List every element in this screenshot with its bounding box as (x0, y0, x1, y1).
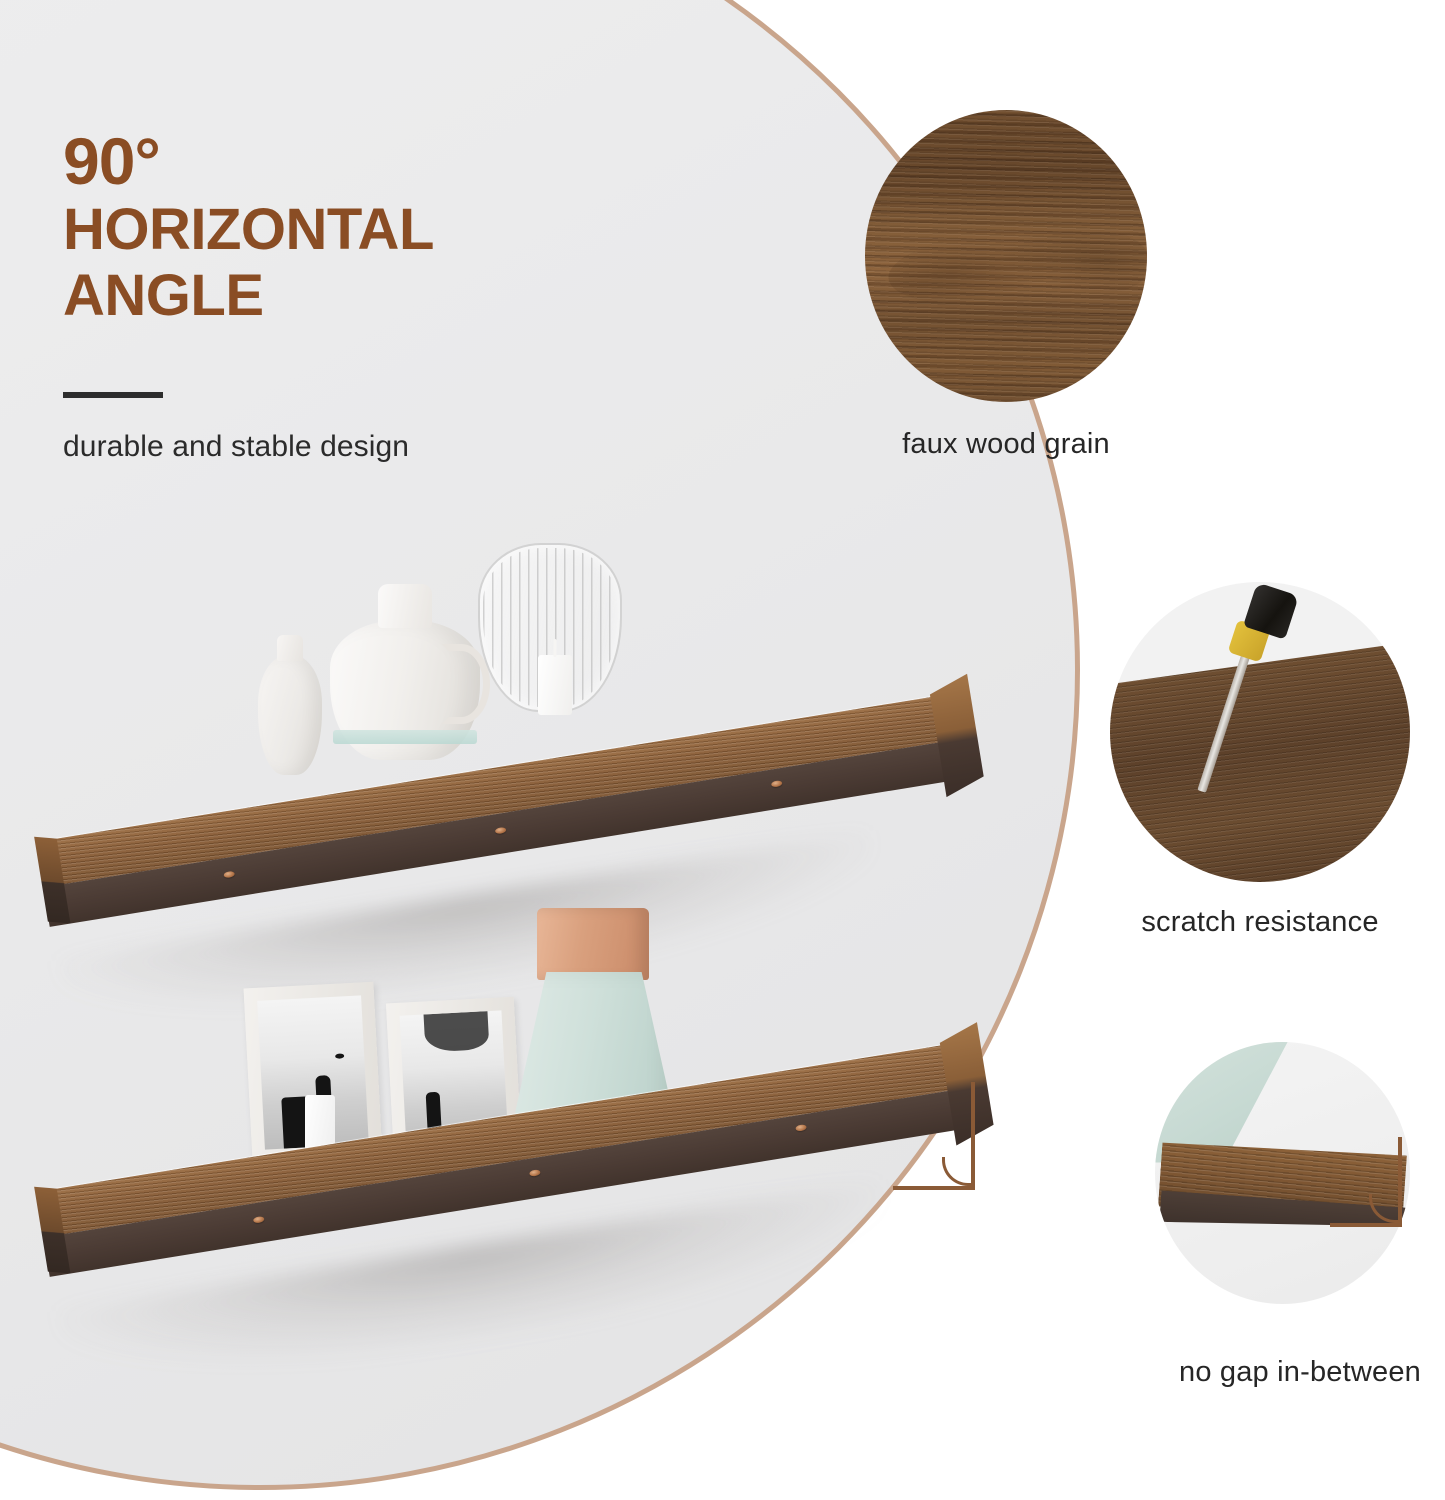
feature-label-no-gap-in-between: no gap in-between (1155, 1356, 1445, 1389)
feature-scratch-resistance: scratch resistance (1110, 582, 1410, 939)
feature-no-gap-in-between: no gap in-between (1155, 1042, 1445, 1389)
decor-small-vase (258, 655, 322, 775)
angle-marker-horizontal-leg (1330, 1223, 1402, 1227)
jug-neck (378, 584, 432, 628)
headline-block: 90° HORIZONTAL ANGLE durable and stable … (63, 128, 623, 464)
feature-faux-wood-grain: faux wood grain (865, 110, 1147, 461)
angle-marker-horizontal-leg (893, 1186, 975, 1190)
photo-bird-speck (335, 1053, 344, 1058)
faux-wood-grain-icon (865, 110, 1147, 402)
headline-line-3: ANGLE (63, 265, 623, 326)
angle-marker-90-degree-inset (1330, 1137, 1402, 1227)
angle-marker-90-degree (893, 1082, 975, 1190)
decor-candle (538, 655, 572, 715)
scratch-resistance-icon (1110, 582, 1410, 882)
feature-label-faux-wood-grain: faux wood grain (865, 428, 1147, 461)
scratch-scene (1110, 582, 1410, 882)
feature-label-scratch-resistance: scratch resistance (1110, 906, 1410, 939)
angle-marker-arc (1369, 1194, 1398, 1223)
decor-vase-copper-top (537, 908, 649, 980)
headline-line-2: HORIZONTAL (63, 199, 623, 260)
angle-marker-vertical-leg (1398, 1137, 1402, 1227)
headline-divider-rule (63, 392, 163, 398)
headline-subtitle: durable and stable design (63, 430, 623, 464)
photo-tree-branches (424, 1011, 489, 1052)
jug-mint-band (333, 730, 477, 744)
angle-marker-vertical-leg (971, 1082, 975, 1190)
decor-white-jug (330, 620, 480, 760)
product-infographic: 90° HORIZONTAL ANGLE durable and stable … (0, 0, 1445, 1500)
headline-angle-value: 90° (63, 128, 623, 195)
scratch-wood-surface (1110, 640, 1410, 882)
wood-grain-texture (865, 110, 1147, 402)
angle-marker-arc (942, 1157, 971, 1186)
candle-wick (554, 639, 557, 657)
vase-neck (277, 635, 303, 661)
